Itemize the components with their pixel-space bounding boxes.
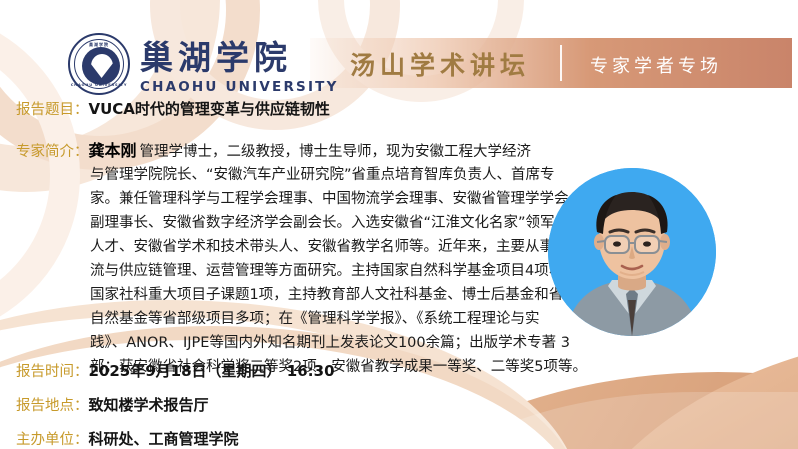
bio-line: 践》、ANOR、IJPE等国内外知名期刊上发表论文100余篇；出版学术专著 3 (16, 331, 782, 355)
speaker-name: 龚本刚 (89, 141, 137, 160)
lecture-venue-row: 报告地点： 致知楼学术报告厅 (16, 394, 209, 415)
speaker-portrait (548, 168, 716, 336)
university-seal-icon: 巢湖学院 CHAOHU UNIVERSITY (68, 33, 130, 95)
report-title-value: VUCA时代的管理变革与供应链韧性 (89, 98, 330, 119)
university-name-en: CHAOHU UNIVERSITY (140, 79, 339, 95)
university-name-cn: 巢湖学院 (140, 41, 339, 76)
lecture-venue-value: 致知楼学术报告厅 (89, 394, 209, 415)
seal-arc-bottom-text: CHAOHU UNIVERSITY (70, 83, 128, 87)
lecture-time-value: 2025年9月18日（星期四） 16:30 (89, 360, 335, 381)
bio-line-text: 管理学博士，二级教授，博士生导师，现为安徽工程大学经济 (140, 144, 532, 160)
university-logo-block: 巢湖学院 CHAOHU UNIVERSITY 巢湖学院 CHAOHU UNIVE… (68, 33, 339, 95)
lecture-organizer-label: 主办单位： (16, 428, 89, 449)
university-name-block: 巢湖学院 CHAOHU UNIVERSITY (140, 41, 339, 95)
poster-header: 巢湖学院 CHAOHU UNIVERSITY 巢湖学院 CHAOHU UNIVE… (0, 0, 798, 96)
lecture-time-label: 报告时间： (16, 360, 89, 381)
band-divider (560, 45, 562, 81)
portrait-illustration (548, 168, 716, 336)
bio-label: 专家简介： (16, 144, 89, 160)
bio-line: 专家简介：龚本刚管理学博士，二级教授，博士生导师，现为安徽工程大学经济 (16, 139, 782, 163)
bottom-swoosh-primary (300, 372, 798, 449)
seal-inner-mark (82, 47, 120, 85)
swoosh-highlight (420, 392, 798, 449)
forum-subtitle: 专家学者专场 (590, 52, 722, 78)
forum-title: 汤山学术讲坛 (350, 46, 530, 82)
lecture-poster: 巢湖学院 CHAOHU UNIVERSITY 巢湖学院 CHAOHU UNIVE… (0, 0, 798, 449)
lecture-venue-label: 报告地点： (16, 394, 89, 415)
lecture-organizer-row: 主办单位： 科研处、工商管理学院 (16, 428, 239, 449)
report-title-row: 报告题目： VUCA时代的管理变革与供应链韧性 (16, 98, 330, 119)
lecture-organizer-value: 科研处、工商管理学院 (89, 428, 239, 449)
report-title-label: 报告题目： (16, 98, 89, 119)
lecture-time-row: 报告时间： 2025年9月18日（星期四） 16:30 (16, 360, 335, 381)
